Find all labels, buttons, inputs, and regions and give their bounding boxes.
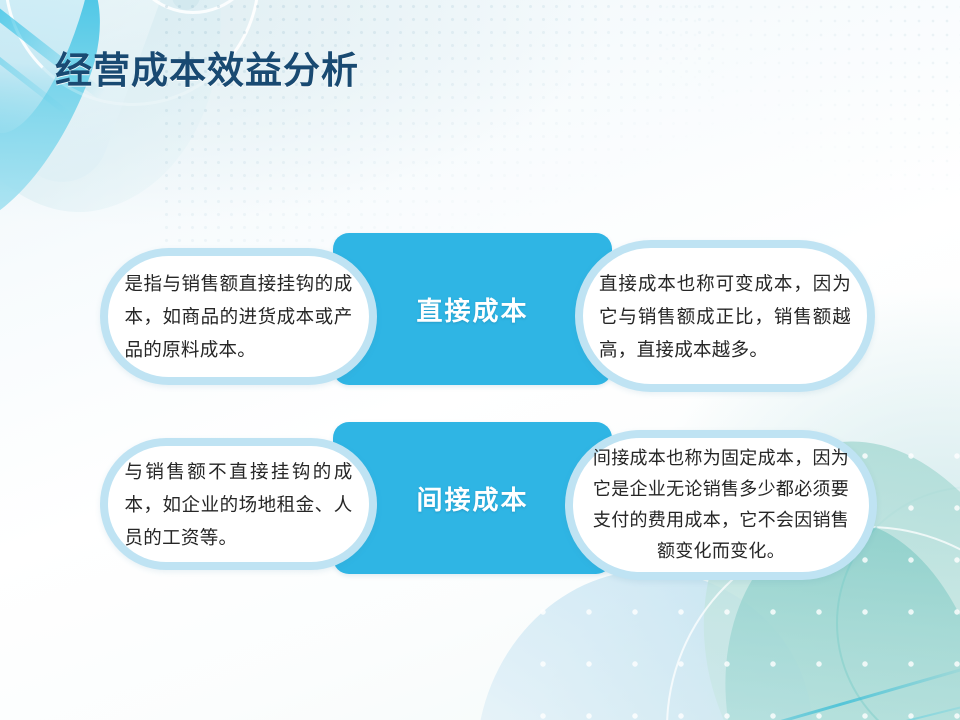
card-indirect-cost-left[interactable]: 与销售额不直接挂钩的成本，如企业的场地租金、人员的工资等。: [100, 438, 377, 570]
card-indirect-cost-right-inner: 间接成本也称为固定成本，因为它是企业无论销售多少都必须要支付的费用成本，它不会因…: [573, 438, 869, 572]
page-title: 经营成本效益分析: [55, 40, 359, 94]
top-right-dot-pattern: [660, 0, 960, 190]
card-direct-cost-right-inner: 直接成本也称可变成本，因为它与销售额成正比，销售额越高，直接成本越多。: [583, 248, 867, 384]
top-right-streak-c: [893, 0, 960, 76]
bottom-right-line-b: [764, 693, 960, 720]
top-right-streak-b: [821, 0, 960, 18]
card-direct-cost-right[interactable]: 直接成本也称可变成本，因为它与销售额成正比，销售额越高，直接成本越多。: [575, 240, 875, 392]
slide-canvas: 经营成本效益分析 直接成本 是指与销售额直接挂钩的成本，如商品的进货成本或产品的…: [0, 0, 960, 720]
card-direct-cost-left-inner: 是指与销售额直接挂钩的成本，如商品的进货成本或产品的原料成本。: [108, 256, 369, 377]
row-indirect-cost: 间接成本 与销售额不直接挂钩的成本，如企业的场地租金、人员的工资等。 间接成本也…: [0, 422, 960, 574]
top-left-panel-shape: [3, 0, 213, 195]
card-indirect-cost-right[interactable]: 间接成本也称为固定成本，因为它是企业无论销售多少都必须要支付的费用成本，它不会因…: [565, 430, 877, 580]
top-left-arc-small-icon: [126, 0, 260, 14]
card-indirect-cost-left-inner: 与销售额不直接挂钩的成本，如企业的场地租金、人员的工资等。: [108, 446, 369, 562]
bottom-right-line-a: [695, 662, 960, 720]
top-left-cyan-ribbon-icon: [0, 0, 130, 256]
card-indirect-cost-left-text: 与销售额不直接挂钩的成本，如企业的场地租金、人员的工资等。: [125, 455, 353, 554]
top-left-blob-shape: [0, 0, 263, 240]
card-direct-cost-right-text: 直接成本也称可变成本，因为它与销售额成正比，销售额越高，直接成本越多。: [599, 267, 851, 366]
card-direct-cost-left-text: 是指与销售额直接挂钩的成本，如商品的进货成本或产品的原料成本。: [125, 267, 353, 366]
card-indirect-cost-right-text: 间接成本也称为固定成本，因为它是企业无论销售多少都必须要支付的费用成本，它不会因…: [587, 443, 855, 567]
row-direct-cost: 直接成本 是指与销售额直接挂钩的成本，如商品的进货成本或产品的原料成本。 直接成…: [0, 233, 960, 385]
top-left-dot-icon: [172, 0, 200, 10]
halftone-dot-pattern: [160, 0, 720, 250]
card-direct-cost-left[interactable]: 是指与销售额直接挂钩的成本，如商品的进货成本或产品的原料成本。: [100, 248, 377, 385]
